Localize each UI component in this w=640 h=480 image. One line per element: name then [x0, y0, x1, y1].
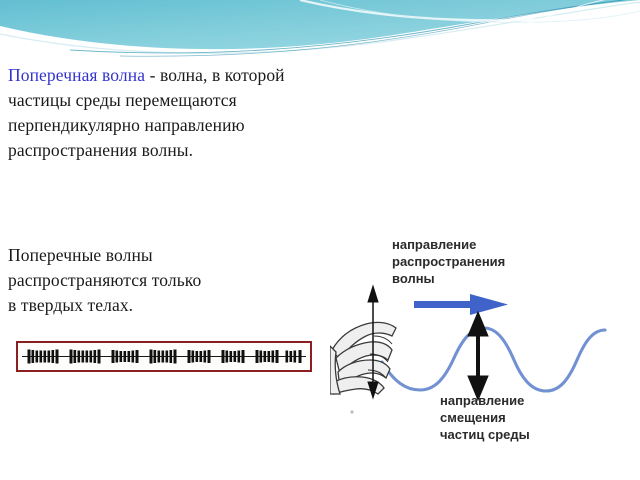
definition-line-4: распространения волны. — [8, 138, 420, 163]
label-displacement-line-3: частиц среды — [440, 426, 530, 443]
propagation-line-1: Поперечные волны — [8, 243, 328, 268]
label-propagation-line-2: распространения — [392, 253, 505, 270]
definition-line-1-rest: - волна, в которой — [145, 65, 285, 85]
spring-animation-figure — [16, 341, 312, 372]
propagation-line-3: в твердых телах. — [8, 293, 328, 318]
label-displacement-direction: направление смещения частиц среды — [440, 392, 530, 443]
definition-line-1: Поперечная волна - волна, в которой — [8, 63, 420, 88]
spring-coil-graphic — [18, 343, 310, 370]
definition-line-3: перпендикулярно направлению — [8, 113, 420, 138]
label-propagation-direction: направление распространения волны — [392, 236, 505, 287]
label-displacement-line-2: смещения — [440, 409, 530, 426]
label-propagation-line-1: направление — [392, 236, 505, 253]
definition-line-2: частицы среды перемещаются — [8, 88, 420, 113]
propagation-paragraph: Поперечные волны распространяются только… — [8, 243, 328, 318]
propagation-line-2: распространяются только — [8, 268, 328, 293]
definition-paragraph: Поперечная волна - волна, в которой част… — [8, 63, 420, 163]
scan-artifact-dot — [350, 410, 353, 413]
definition-term: Поперечная волна — [8, 65, 145, 85]
label-displacement-line-1: направление — [440, 392, 530, 409]
decorative-wave-banner — [0, 0, 640, 58]
label-propagation-line-3: волны — [392, 270, 505, 287]
